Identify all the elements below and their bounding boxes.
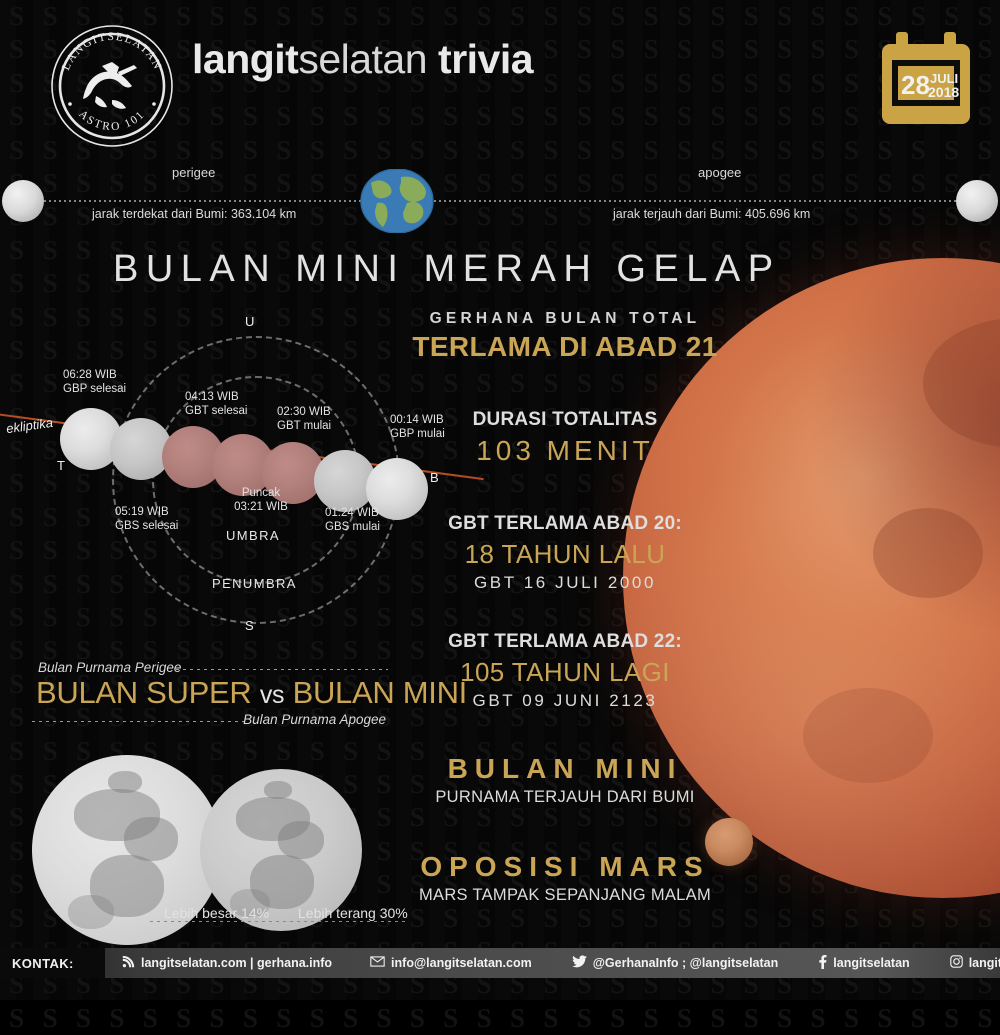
footer-item-facebook[interactable]: langitselatan <box>818 955 909 972</box>
ecliptic-label: ekliptika <box>5 415 54 436</box>
stats-column: GERHANA BULAN TOTAL TERLAMA DI ABAD 21 D… <box>400 310 730 905</box>
footer-item-email[interactable]: info@langitselatan.com <box>370 956 532 970</box>
point-north-label: U <box>245 314 254 329</box>
calendar-year: 2018 <box>928 84 959 100</box>
century20-date: GBT 16 JULI 2000 <box>400 573 730 593</box>
phase-event: GBS selesai <box>115 519 178 533</box>
twitter-icon <box>572 955 587 971</box>
title-part-bold-1: langit <box>192 36 298 82</box>
phase-event: GBP selesai <box>63 382 126 396</box>
contact-footer: KONTAK: langitselatan.com | gerhana.info… <box>0 948 1000 978</box>
stat-headline-gold: TERLAMA DI ABAD 21 <box>400 331 730 363</box>
mars-illustration <box>705 818 753 866</box>
supermoon-vs-minimoon-block: Bulan Purnama Perigee BULAN SUPER vs BUL… <box>0 655 420 935</box>
footer-item-text: langitselatan <box>833 956 909 970</box>
century22-label: GBT TERLAMA ABAD 22: <box>400 631 730 653</box>
peak-label: Puncak <box>226 486 296 500</box>
footer-item-text: info@langitselatan.com <box>391 956 532 970</box>
phase-time: 04:13 WIB <box>185 390 247 404</box>
perigee-apogee-band: perigee jarak terdekat dari Bumi: 363.10… <box>0 155 1000 247</box>
century20-label: GBT TERLAMA ABAD 20: <box>400 513 730 535</box>
phase-callout-gbt-selesai: 04:13 WIB GBT selesai <box>185 390 247 418</box>
point-south-label: S <box>245 618 254 633</box>
compare-foot-right: Lebih terang 30% <box>298 905 408 921</box>
rss-icon <box>122 955 135 971</box>
phase-time: 05:19 WIB <box>115 505 178 519</box>
email-icon <box>370 956 385 970</box>
perigee-distance: jarak terdekat dari Bumi: 363.104 km <box>92 207 296 221</box>
phase-event: GBT selesai <box>185 404 247 418</box>
footer-item-text: langitselatanmedia <box>969 956 1000 970</box>
compare-top-rule <box>176 669 388 670</box>
instagram-icon <box>950 955 963 971</box>
penumbra-label: PENUMBRA <box>212 576 297 591</box>
footer-item-text: langitselatan.com | gerhana.info <box>141 956 332 970</box>
phase-time: 06:28 WIB <box>63 368 126 382</box>
peak-callout: Puncak 03:21 WIB <box>226 486 296 514</box>
bulan-mini-sub: PURNAMA TERJAUH DARI BUMI <box>400 788 730 807</box>
langitselatan-logo-icon: LANGITSELATAN ASTRO 101 <box>48 22 176 150</box>
title-part-bold-2: trivia <box>438 36 533 82</box>
title-part-light: selatan <box>298 36 427 82</box>
page-title: langitselatantrivia <box>192 36 533 83</box>
compare-foot-left: Lebih besar 14% <box>164 905 269 921</box>
footer-item-website[interactable]: langitselatan.com | gerhana.info <box>122 955 332 971</box>
compare-bottom-label: Bulan Purnama Apogee <box>243 712 386 727</box>
duration-label: DURASI TOTALITAS <box>400 409 730 431</box>
compare-top-label: Bulan Purnama Perigee <box>38 660 181 675</box>
phase-time: 02:30 WIB <box>277 405 331 419</box>
compare-title-right: BULAN MINI <box>293 675 467 710</box>
phase-callout-gbt-mulai: 02:30 WIB GBT mulai <box>277 405 331 433</box>
compare-title: BULAN SUPER vs BULAN MINI <box>36 675 467 711</box>
compare-foot-rule <box>150 921 408 922</box>
footer-item-instagram[interactable]: langitselatanmedia <box>950 955 1000 971</box>
bulan-mini-title: BULAN MINI <box>400 753 730 785</box>
compare-title-vs: vs <box>260 681 284 709</box>
logo-rider-emblem <box>68 62 156 109</box>
perigee-label: perigee <box>172 165 215 180</box>
footer-item-text: @GerhanaInfo ; @langitselatan <box>593 956 779 970</box>
phase-event: GBS mulai <box>325 520 380 534</box>
phase-callout-gbs-selesai: 05:19 WIB GBS selesai <box>115 505 178 533</box>
logo-arc-bottom-text: ASTRO 101 <box>76 108 147 133</box>
phase-callout-gbs-mulai: 01:24 WIB GBS mulai <box>325 506 380 534</box>
peak-time: 03:21 WIB <box>226 500 296 514</box>
orbit-dotted-line <box>14 200 986 202</box>
calendar-badge: 28 JULI 2018 <box>874 28 978 132</box>
facebook-icon <box>818 955 827 972</box>
earth-globe-icon <box>351 169 443 233</box>
century20-value: 18 TAHUN LALU <box>400 539 730 570</box>
apogee-moon-icon <box>956 180 998 222</box>
duration-value: 103 MENIT <box>400 435 730 467</box>
footer-item-twitter[interactable]: @GerhanaInfo ; @langitselatan <box>572 955 779 971</box>
footer-kontak-label: KONTAK: <box>0 948 105 978</box>
main-headline: BULAN MINI MERAH GELAP <box>113 248 781 291</box>
umbra-label: UMBRA <box>226 528 280 543</box>
oposisi-mars-title: OPOSISI MARS <box>400 851 730 883</box>
point-west-label: T <box>57 458 65 473</box>
phase-event: GBT mulai <box>277 419 331 433</box>
phase-callout-gbp-selesai: 06:28 WIB GBP selesai <box>63 368 126 396</box>
stat-headline-kicker: GERHANA BULAN TOTAL <box>400 310 730 328</box>
perigee-moon-icon <box>2 180 44 222</box>
compare-bottom-rule <box>32 721 244 722</box>
apogee-distance: jarak terjauh dari Bumi: 405.696 km <box>613 207 810 221</box>
oposisi-mars-sub: MARS TAMPAK SEPANJANG MALAM <box>400 886 730 905</box>
calendar-day: 28 <box>901 70 930 100</box>
apogee-label: apogee <box>698 165 741 180</box>
compare-title-left: BULAN SUPER <box>36 675 252 710</box>
phase-time: 01:24 WIB <box>325 506 380 520</box>
svg-text:ASTRO 101: ASTRO 101 <box>76 108 147 133</box>
